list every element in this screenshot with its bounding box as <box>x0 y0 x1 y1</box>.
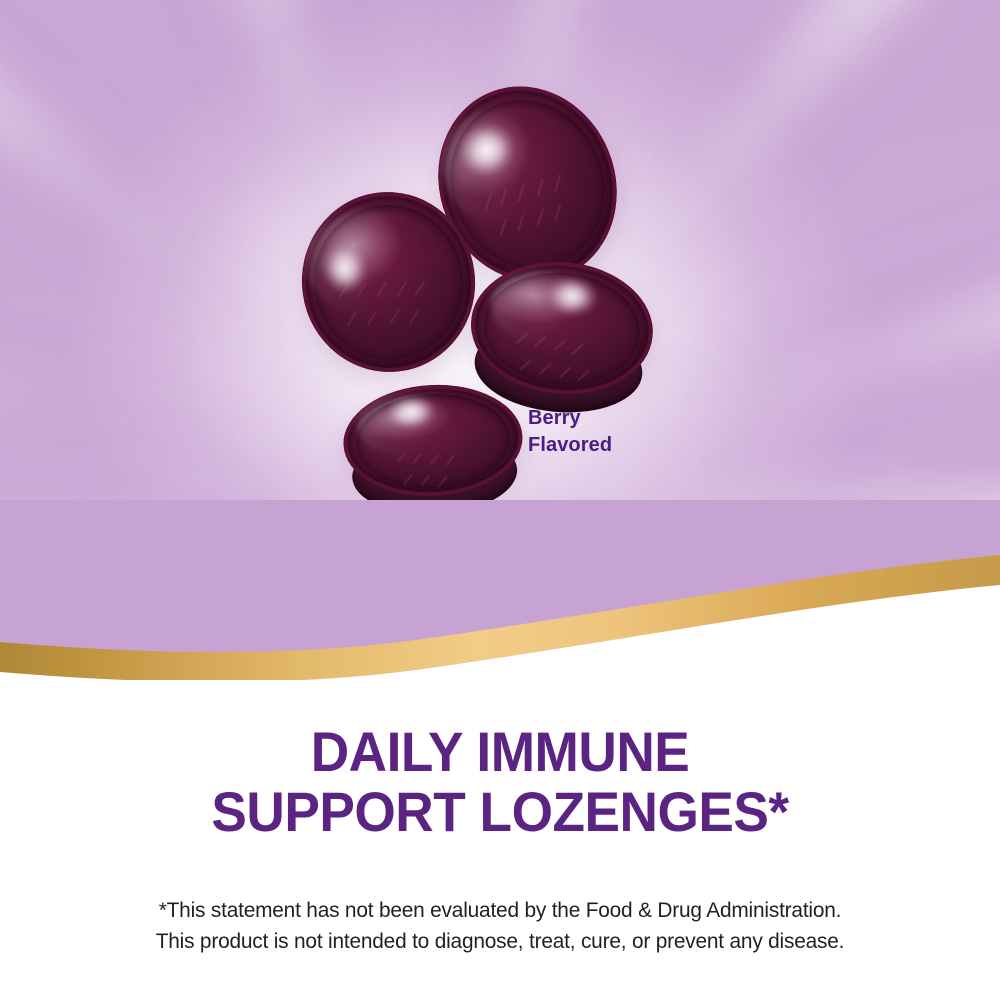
fda-disclaimer: *This statement has not been evaluated b… <box>15 895 985 956</box>
page-title: DAILY IMMUNE SUPPORT LOZENGES* <box>25 722 975 842</box>
gold-wave-divider <box>0 500 1000 700</box>
bottom-text-panel: DAILY IMMUNE SUPPORT LOZENGES* *This sta… <box>0 680 1000 1000</box>
product-marketing-image: Berry Flavored DAILY IMMUNE SUPPORT LOZE… <box>0 0 1000 1000</box>
flavor-label: Berry Flavored <box>528 405 612 459</box>
